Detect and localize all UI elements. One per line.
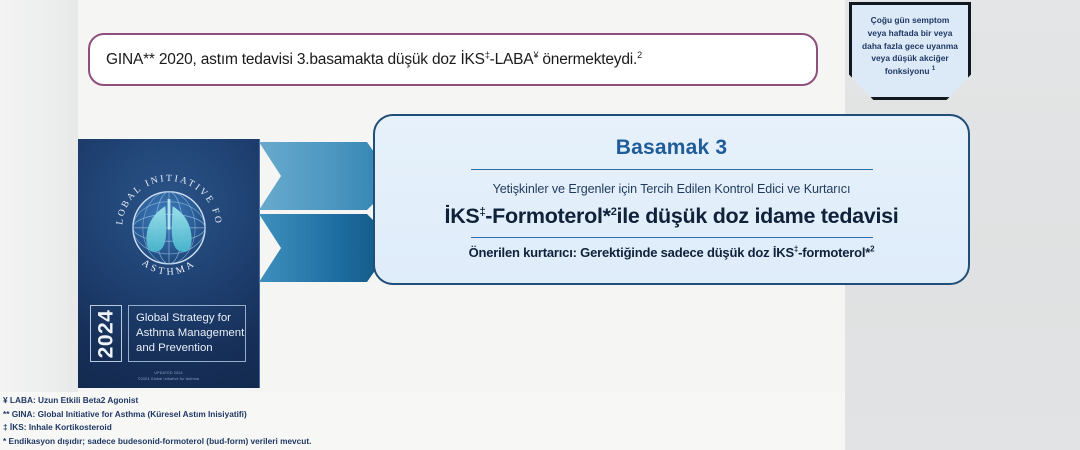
gina-globe-lungs-logo-icon: GLOBAL INITIATIVE FOR ASTHMA	[106, 163, 232, 289]
statement-text-mid: -LABA	[490, 51, 534, 68]
callout-line-5: fonksiyonu	[885, 66, 930, 76]
divider-bottom	[471, 237, 873, 238]
rescue-sup-b: 2	[870, 245, 874, 254]
step-rescue-treatment: Önerilen kurtarıcı: Gerektiğinde sadece …	[375, 245, 968, 260]
symptom-criteria-text: Çoğu gün semptom veya haftada bir veya d…	[862, 14, 958, 78]
footnotes-list: ¥ LABA: Uzun Etkili Beta2 Agonist ** GIN…	[3, 394, 523, 448]
callout-line-3: daha fazla gece uyanma	[862, 41, 958, 51]
report-title-box: Global Strategy for Asthma Management an…	[128, 305, 246, 362]
symptom-criteria-callout: Çoğu gün semptom veya haftada bir veya d…	[849, 2, 971, 100]
main-text-c: ile düşük doz idame tedavisi	[617, 204, 899, 228]
gina-2024-report-cover: GLOBAL INITIATIVE FOR ASTHMA 2024 Global…	[78, 139, 260, 388]
footnote-item: ¥ LABA: Uzun Etkili Beta2 Agonist	[3, 394, 523, 408]
report-fine-print: UPDATED 2024 ©2024 Global Initiative for…	[78, 370, 259, 383]
callout-sup-ref: 1	[932, 66, 935, 72]
statement-text-after: önermekteydi.	[538, 51, 637, 68]
step-title: Basamak 3	[375, 136, 968, 160]
report-title-line-3: and Prevention	[136, 342, 213, 354]
main-text-a: İKS	[445, 204, 480, 228]
main-text-b: -Formoterol*	[485, 204, 610, 228]
left-background-gutter	[0, 0, 78, 392]
callout-line-4: veya düşük akciğer	[871, 53, 948, 63]
footnote-item: * Endikasyon dışıdır; sadece budesonid-f…	[3, 435, 523, 449]
statement-sup-ref: 2	[637, 49, 642, 59]
gina-2020-statement-text: GINA** 2020, astım tedavisi 3.basamakta …	[106, 51, 642, 69]
report-title-line-2: Asthma Management	[136, 327, 244, 339]
report-title-line-1: Global Strategy for	[136, 312, 231, 324]
report-fine-line-1: UPDATED 2024	[154, 371, 182, 375]
step-subtitle: Yetişkinler ve Ergenler için Tercih Edil…	[375, 182, 968, 196]
gina-2020-statement-banner: GINA** 2020, astım tedavisi 3.basamakta …	[88, 33, 818, 86]
report-year: 2024	[94, 309, 118, 358]
report-year-box: 2024	[90, 305, 122, 362]
statement-text-before: GINA** 2020, astım tedavisi 3.basamakta …	[106, 51, 485, 68]
footnote-item: ** GINA: Global Initiative for Asthma (K…	[3, 408, 523, 422]
step-main-treatment: İKS‡-Formoterol*2ile düşük doz idame ted…	[375, 204, 968, 229]
report-fine-line-2: ©2024 Global Initiative for Asthma	[138, 377, 199, 381]
footnote-item: ‡ İKS: Inhale Kortikosteroid	[3, 421, 523, 435]
callout-line-2: veya haftada bir veya	[868, 28, 953, 38]
divider-top	[471, 169, 873, 170]
rescue-text-b: -formoterol*	[798, 245, 870, 260]
report-title: Global Strategy for Asthma Management an…	[136, 311, 244, 356]
step-3-treatment-box: Basamak 3 Yetişkinler ve Ergenler için T…	[373, 114, 970, 285]
rescue-text-a: Önerilen kurtarıcı: Gerektiğinde sadece …	[469, 245, 794, 260]
callout-line-1: Çoğu gün semptom	[871, 15, 950, 25]
